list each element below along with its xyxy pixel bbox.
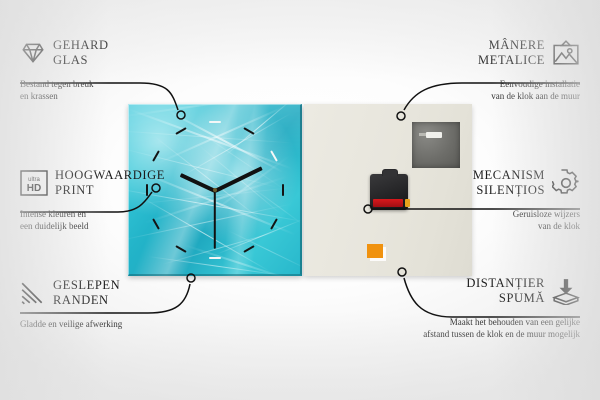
callout-title: Hoogwaardige PRINT [55,168,165,198]
callout-geslepen-randen[interactable]: GESLEPEN RANDEN Gladde en veilige afwerk… [20,278,122,330]
battery-terminal [405,199,410,207]
callout-title-row: DISTANȚIER SPUMĂ [423,276,580,306]
gear-icon [552,169,580,197]
callout-subtitle-line1: Eenvoudige installatie [478,78,580,90]
picture-frame-icon [552,40,580,66]
callout-gehard-glas[interactable]: GEHARD GLAS Bestand tegen breuk en krass… [20,38,109,102]
hanger-slot [426,132,442,138]
mechanism-hook [382,169,398,176]
callout-title-row: MÂNERE METALICE [478,38,580,68]
callout-subtitle-line2: van de klok [473,220,580,232]
callout-subtitle-line1: Gladde en veilige afwerking [20,318,122,330]
ultra-hd-icon: ultra HD [20,170,48,196]
callout-title-row: GESLEPEN RANDEN [20,278,122,308]
product-image [128,104,472,276]
svg-text:HD: HD [27,183,41,194]
callout-title-row: GEHARD GLAS [20,38,109,68]
callout-subtitle-line2: een duidelijk beeld [20,220,165,232]
callout-title: MECANISM SILENȚIOS [473,168,545,198]
callout-subtitle-line2: van de klok aan de muur [478,90,580,102]
clock-back-panel [304,104,472,276]
callout-title-row: MECANISM SILENȚIOS [473,168,580,198]
callout-title-row: ultra HD Hoogwaardige PRINT [20,168,165,198]
callout-subtitle-line1: Geruisloze wijzers [473,208,580,220]
callout-manere-metalice[interactable]: MÂNERE METALICE Eenvoudige installatie v… [478,38,580,102]
infographic-canvas: GEHARD GLAS Bestand tegen breuk en krass… [0,0,600,400]
callout-title: GESLEPEN RANDEN [53,278,120,308]
callout-subtitle-line2: en krassen [20,90,109,102]
clock-mechanism-box [370,174,408,210]
spacer-arrow-icon [552,277,580,305]
callout-subtitle-line1: Intense kleuren en [20,208,165,220]
diagonal-lines-icon [20,280,46,306]
diamond-icon [20,40,46,66]
hanger-slot-secondary [419,133,426,136]
callout-subtitle-line1: Bestand tegen breuk [20,78,109,90]
callout-distantier-spuma[interactable]: DISTANȚIER SPUMĂ Maakt het behouden van … [423,276,580,340]
metal-hanger-plate [412,122,460,168]
callout-subtitle-line1: Maakt het behouden van een gelijke [423,316,580,328]
callout-title: DISTANȚIER SPUMĂ [466,276,545,306]
callout-title: GEHARD GLAS [53,38,109,68]
callout-mecanism-silentios[interactable]: MECANISM SILENȚIOS Geruisloze wijzers va… [473,168,580,232]
callout-title: MÂNERE METALICE [478,38,545,68]
callout-subtitle-line2: afstand tussen de klok en de muur mogeli… [423,328,580,340]
foam-spacer [367,244,383,258]
battery [373,199,403,207]
callout-hoogwaardige-print[interactable]: ultra HD Hoogwaardige PRINT Intense kleu… [20,168,165,232]
